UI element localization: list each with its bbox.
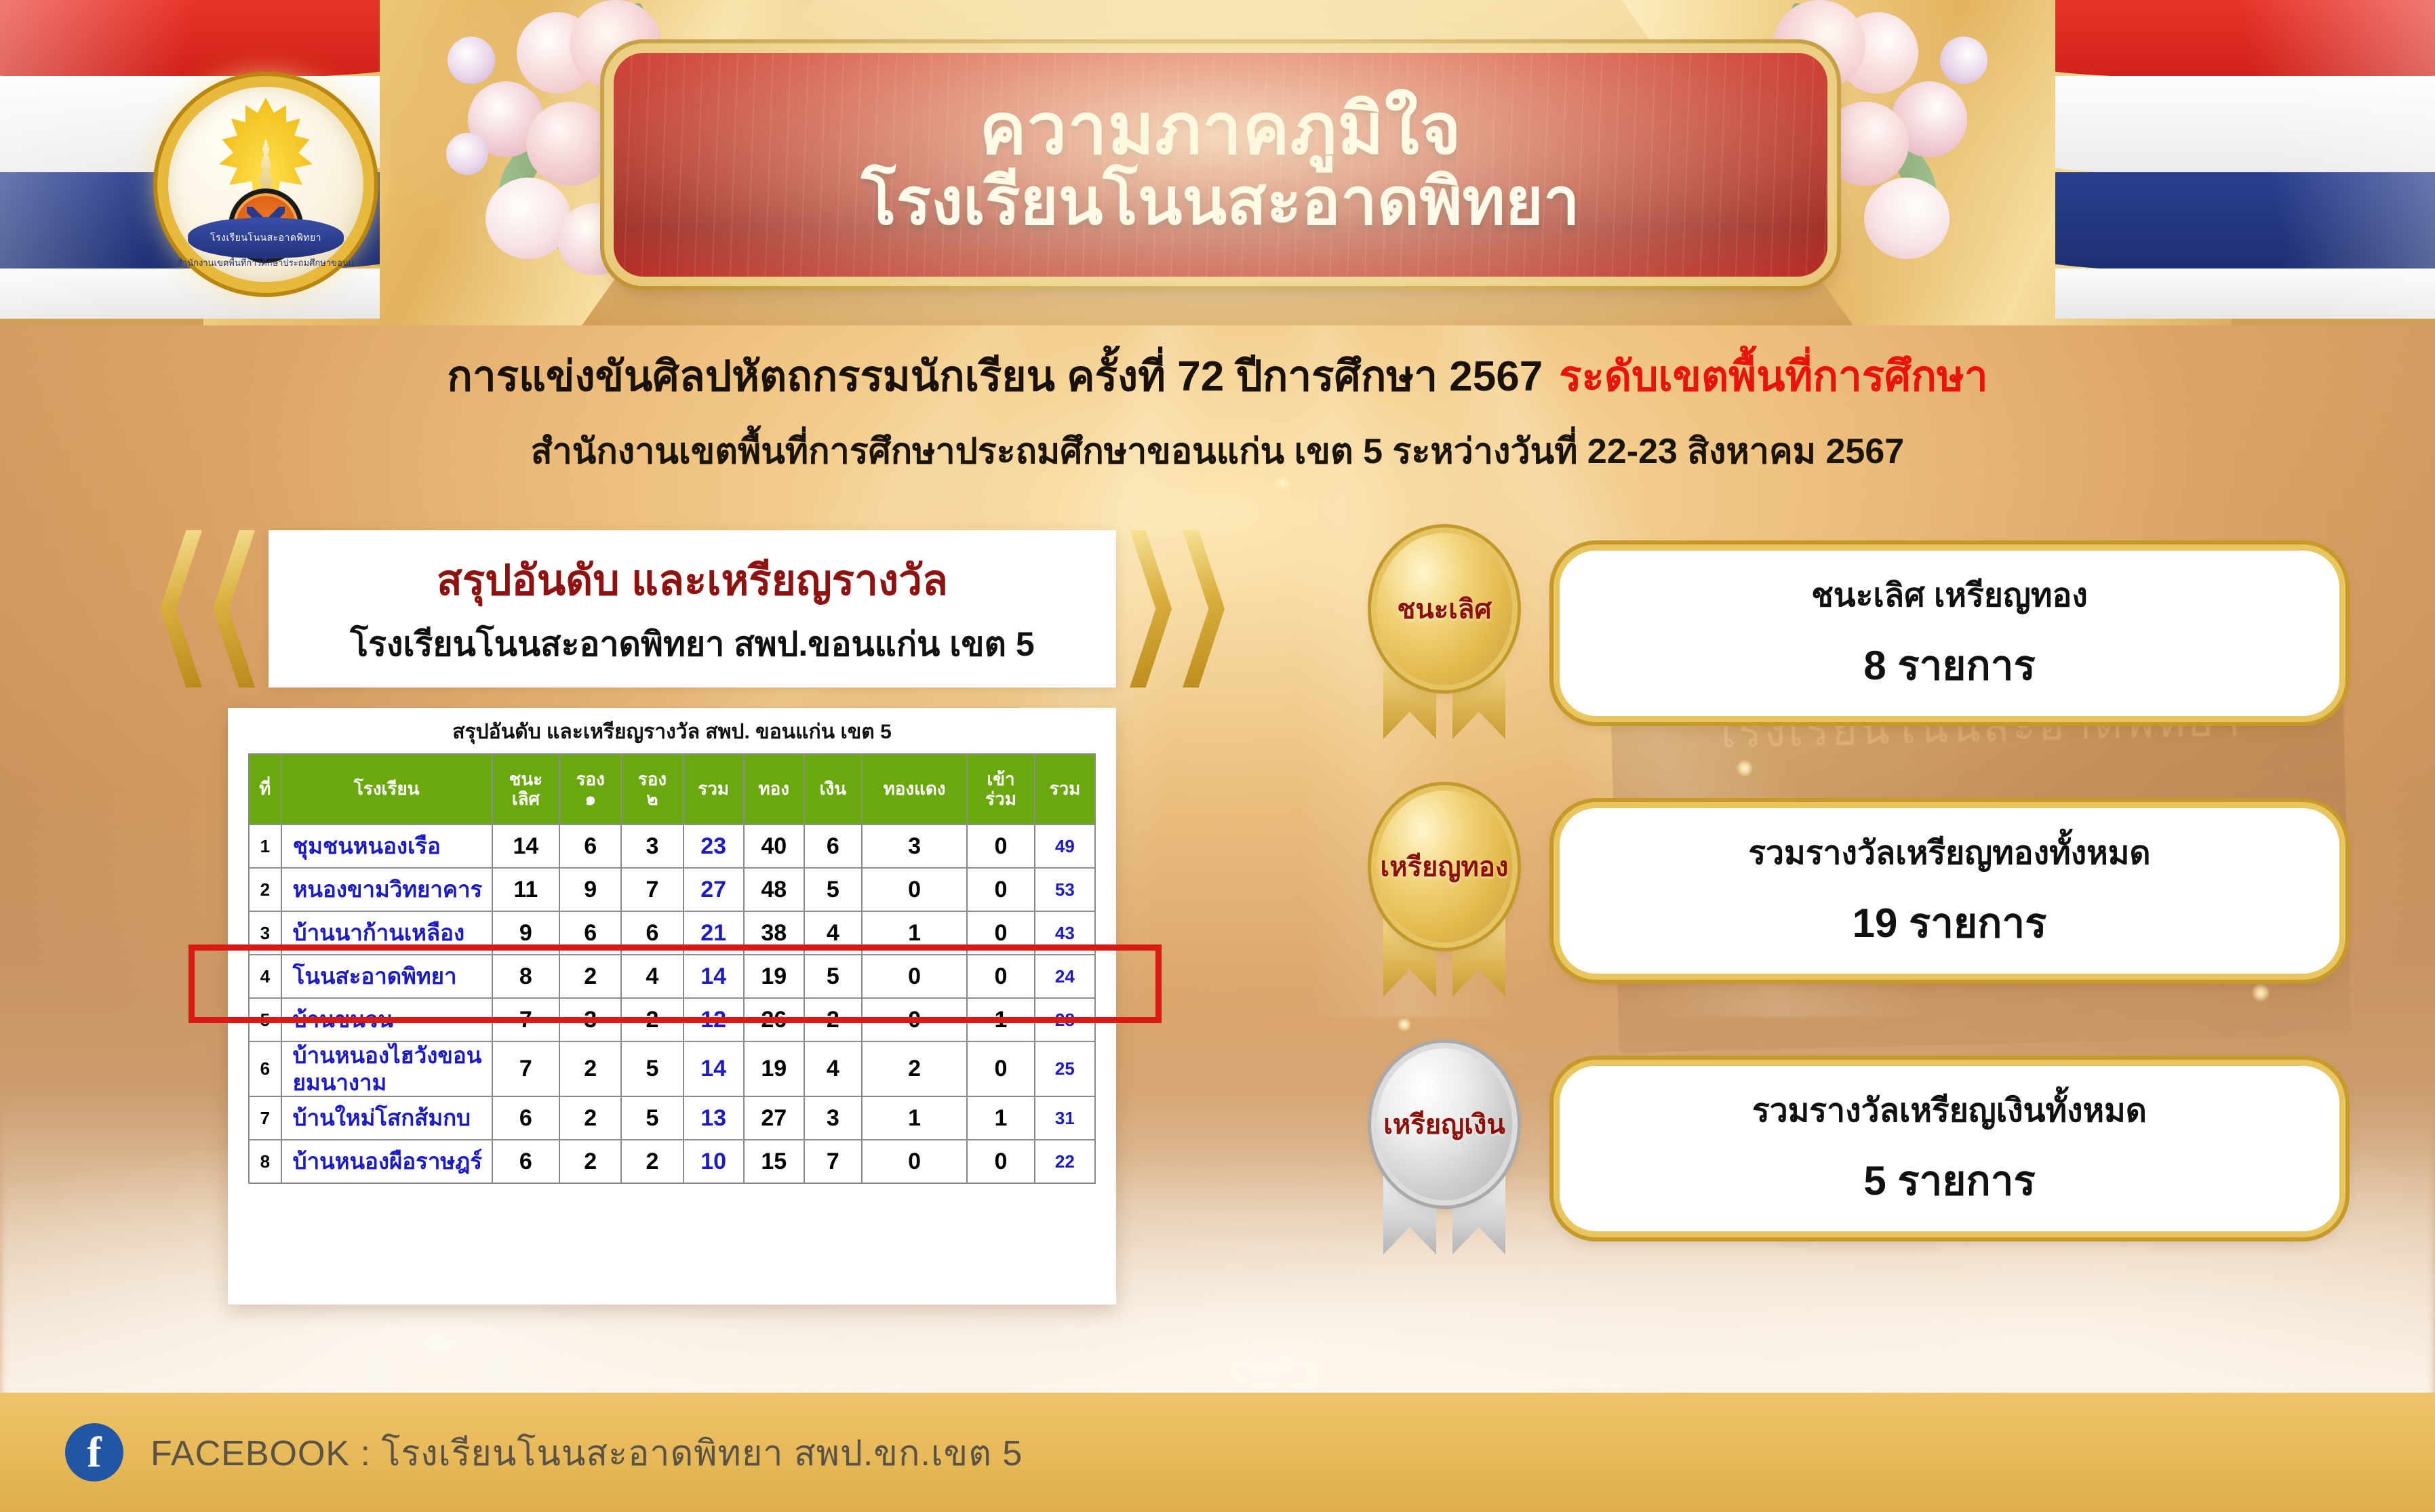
- table-cell-gold: 19: [744, 1041, 804, 1096]
- table-cell-bronze: 3: [862, 824, 967, 868]
- table-column-header-2: ชนะเลิศ: [492, 754, 560, 824]
- table-column-header-0: ที่: [249, 754, 281, 824]
- table-cell-school: โนนสะอาดพิทยา: [281, 955, 492, 998]
- table-header-row: ที่โรงเรียนชนะเลิศรอง๑รอง๒รวมทองเงินทองแ…: [249, 754, 1095, 824]
- table-cell-school: บ้านนาก้านเหลือง: [281, 911, 492, 955]
- table-cell-part: 0: [967, 911, 1035, 955]
- emblem-arc-text: สำนักงานเขตพื้นที่การศึกษาประถมศึกษาขอนแ…: [177, 256, 355, 270]
- table-cell-total: 28: [1035, 998, 1095, 1041]
- table-cell-r2: 3: [621, 824, 683, 868]
- table-caption: สรุปอันดับ และเหรียญรางวัล สพป. ขอนแก่น …: [228, 708, 1116, 753]
- table-column-header-4: รอง๒: [621, 754, 683, 824]
- table-cell-part: 1: [967, 998, 1035, 1041]
- table-body: 1ชุมชนหนองเรือ14632340630492หนองขามวิทยา…: [249, 824, 1095, 1183]
- table-cell-win: 7: [492, 998, 560, 1041]
- award-row-2: เหรียญทอง รวมรางวัลเหรียญทองทั้งหมด 19 ร…: [1343, 792, 2339, 995]
- table-cell-school: บ้านขนวน: [281, 998, 492, 1041]
- table-cell-win: 9: [492, 911, 560, 955]
- table-cell-total: 24: [1035, 955, 1095, 998]
- table-cell-total: 43: [1035, 911, 1095, 955]
- table-cell-part: 0: [967, 824, 1035, 868]
- floral-decoration-left: [366, 0, 746, 312]
- gold-swoosh-right: [1621, 0, 2232, 325]
- table-cell-gold: 27: [744, 1096, 804, 1140]
- table-cell-school: หนองขามวิทยาคาร: [281, 868, 492, 911]
- table-cell-part: 0: [967, 1041, 1035, 1096]
- table-cell-silver: 5: [804, 955, 862, 998]
- table-row[interactable]: 4โนนสะอาดพิทยา824141950024: [249, 955, 1095, 998]
- table-cell-school: บ้านหนองไฮวังขอนยมนางาม: [281, 1041, 492, 1096]
- table-cell-silver: 7: [804, 1140, 862, 1183]
- emblem-ribbon: โรงเรียนโนนสะอาดพิทยา: [188, 217, 344, 259]
- table-cell-no: 5: [249, 998, 281, 1041]
- gold-swoosh-left: [203, 0, 814, 325]
- award-card-title: รวมรางวัลเหรียญทองทั้งหมด: [1748, 827, 2150, 879]
- table-cell-sum: 14: [684, 1041, 744, 1096]
- table-cell-sum: 10: [684, 1140, 744, 1183]
- award-card: ชนะเลิศ เหรียญทอง 8 รายการ: [1560, 551, 2339, 716]
- table-cell-sum: 13: [684, 1096, 744, 1140]
- table-cell-r1: 6: [559, 824, 621, 868]
- table-column-header-3: รอง๑: [559, 754, 621, 824]
- table-cell-bronze: 0: [862, 868, 967, 911]
- award-ribbon-icon: ชนะเลิศ: [1343, 530, 1546, 734]
- subtitle-row-1: การแข่งขันศิลปหัตถกรรมนักเรียน ครั้งที่ …: [0, 339, 2435, 414]
- footer-bar: f FACEBOOK : โรงเรียนโนนสะอาดพิทยา สพป.ข…: [0, 1393, 2435, 1512]
- table-cell-sum: 21: [684, 911, 744, 955]
- table-cell-no: 1: [249, 824, 281, 868]
- table-column-header-7: เงิน: [804, 754, 862, 824]
- table-cell-bronze: 1: [862, 1096, 967, 1140]
- table-cell-silver: 6: [804, 824, 862, 868]
- table-cell-total: 53: [1035, 868, 1095, 911]
- table-cell-bronze: 1: [862, 911, 967, 955]
- page-title-line2: โรงเรียนโนนสะอาดพิทยา: [861, 168, 1580, 237]
- table-column-header-5: รวม: [684, 754, 744, 824]
- table-cell-total: 31: [1035, 1096, 1095, 1140]
- table-cell-total: 22: [1035, 1140, 1095, 1183]
- table-row[interactable]: 2หนองขามวิทยาคาร1197274850053: [249, 868, 1095, 911]
- thai-flag-right: [2055, 0, 2435, 319]
- ranking-table-card: สรุปอันดับ และเหรียญรางวัล สพป. ขอนแก่น …: [228, 708, 1116, 1305]
- emblem-ribbon-text: โรงเรียนโนนสะอาดพิทยา: [188, 217, 344, 259]
- table-cell-silver: 3: [804, 1096, 862, 1140]
- table-column-header-6: ทอง: [744, 754, 804, 824]
- section-subheading: โรงเรียนโนนสะอาดพิทยา สพป.ขอนแก่น เขต 5: [350, 618, 1034, 671]
- award-card-value: 5 รายการ: [1863, 1149, 2035, 1213]
- award-badge-label: ชนะเลิศ: [1377, 533, 1512, 685]
- table-cell-bronze: 2: [862, 1041, 967, 1096]
- table-cell-r1: 6: [559, 911, 621, 955]
- table-cell-no: 2: [249, 868, 281, 911]
- table-cell-sum: 14: [684, 955, 744, 998]
- table-cell-school: ชุมชนหนองเรือ: [281, 824, 492, 868]
- poster-stage: โรงเรียนโนนสะอาดพิทยา NONSAADPITTAYA SCH…: [0, 0, 2435, 1512]
- table-cell-gold: 19: [744, 955, 804, 998]
- table-cell-part: 0: [967, 868, 1035, 911]
- award-card-value: 19 รายการ: [1853, 891, 2047, 955]
- table-cell-r1: 2: [559, 1096, 621, 1140]
- table-cell-silver: 2: [804, 998, 862, 1041]
- table-row[interactable]: 8บ้านหนองผือราษฎร์622101570022: [249, 1140, 1095, 1183]
- table-row[interactable]: 6บ้านหนองไฮวังขอนยมนางาม725141942025: [249, 1041, 1095, 1096]
- table-cell-gold: 48: [744, 868, 804, 911]
- table-cell-win: 6: [492, 1140, 560, 1183]
- award-card: รวมรางวัลเหรียญเงินทั้งหมด 5 รายการ: [1560, 1066, 2339, 1231]
- table-cell-no: 7: [249, 1096, 281, 1140]
- table-cell-no: 3: [249, 911, 281, 955]
- award-ribbon-icon: เหรียญทอง: [1343, 788, 1546, 991]
- table-cell-gold: 38: [744, 911, 804, 955]
- chevron-right-icon: [1130, 530, 1172, 688]
- pagoda-icon: [251, 138, 281, 217]
- award-ribbon-icon: เหรียญเงิน: [1343, 1046, 1546, 1249]
- award-badge-label: เหรียญเงิน: [1377, 1048, 1512, 1200]
- table-cell-sum: 12: [684, 998, 744, 1041]
- table-cell-part: 0: [967, 1140, 1035, 1183]
- table-cell-gold: 15: [744, 1140, 804, 1183]
- table-cell-school: บ้านใหม่โสกส้มกบ: [281, 1096, 492, 1140]
- table-column-header-10: รวม: [1035, 754, 1095, 824]
- table-row[interactable]: 3บ้านนาก้านเหลือง966213841043: [249, 911, 1095, 955]
- table-cell-bronze: 0: [862, 955, 967, 998]
- award-card-title: รวมรางวัลเหรียญเงินทั้งหมด: [1752, 1085, 2147, 1136]
- section-heading: สรุปอันดับ และเหรียญรางวัล: [437, 547, 948, 614]
- table-cell-silver: 4: [804, 1041, 862, 1096]
- table-cell-sum: 23: [684, 824, 744, 868]
- table-column-header-8: ทองแดง: [862, 754, 967, 824]
- thai-flag-left: [0, 0, 380, 319]
- table-row[interactable]: 1ชุมชนหนองเรือ1463234063049: [249, 824, 1095, 868]
- table-cell-r1: 9: [559, 868, 621, 911]
- floral-decoration-right: [1689, 0, 2069, 312]
- school-emblem: โรงเรียนโนนสะอาดพิทยา สำนักงานเขตพื้นที่…: [168, 87, 363, 282]
- award-row-1: ชนะเลิศ ชนะเลิศ เหรียญทอง 8 รายการ: [1343, 534, 2339, 738]
- table-cell-win: 7: [492, 1041, 560, 1096]
- table-cell-total: 25: [1035, 1041, 1095, 1096]
- chevron-left-icon: [213, 530, 255, 688]
- table-cell-win: 6: [492, 1096, 560, 1140]
- table-cell-school: บ้านหนองผือราษฎร์: [281, 1140, 492, 1183]
- award-card-title: ชนะเลิศ เหรียญทอง: [1811, 570, 2088, 621]
- table-cell-bronze: 0: [862, 998, 967, 1041]
- section-header-panel: สรุปอันดับ และเหรียญรางวัล โรงเรียนโนนสะ…: [269, 530, 1116, 688]
- table-cell-gold: 40: [744, 824, 804, 868]
- footer-text: FACEBOOK : โรงเรียนโนนสะอาดพิทยา สพป.ขก.…: [151, 1425, 1023, 1481]
- table-cell-no: 8: [249, 1140, 281, 1183]
- table-cell-r2: 6: [621, 911, 683, 955]
- table-column-header-1: โรงเรียน: [281, 754, 492, 824]
- chevron-right-icon: [1183, 530, 1225, 688]
- table-row[interactable]: 7บ้านใหม่โสกส้มกบ625132731131: [249, 1096, 1095, 1140]
- subtitle-red-text: ระดับเขตพื้นที่การศึกษา: [1559, 343, 1987, 410]
- table-cell-r2: 5: [621, 1096, 683, 1140]
- table-cell-no: 6: [249, 1041, 281, 1096]
- table-cell-win: 8: [492, 955, 560, 998]
- table-cell-r1: 2: [559, 1140, 621, 1183]
- table-cell-silver: 5: [804, 868, 862, 911]
- top-banner: โรงเรียนโนนสะอาดพิทยา สำนักงานเขตพื้นที่…: [0, 0, 2435, 325]
- table-cell-r1: 2: [559, 955, 621, 998]
- table-cell-win: 11: [492, 868, 560, 911]
- subtitle-black-text: การแข่งขันศิลปหัตถกรรมนักเรียน ครั้งที่ …: [447, 343, 1543, 410]
- section-header-banner: สรุปอันดับ และเหรียญรางวัล โรงเรียนโนนสะ…: [160, 530, 1225, 688]
- ranking-table: ที่โรงเรียนชนะเลิศรอง๑รอง๒รวมทองเงินทองแ…: [248, 753, 1096, 1184]
- award-badge-label: เหรียญทอง: [1377, 791, 1512, 942]
- table-cell-total: 49: [1035, 824, 1095, 868]
- table-column-header-9: เข้าร่วม: [967, 754, 1035, 824]
- crown-icon: [215, 98, 317, 193]
- table-cell-bronze: 0: [862, 1140, 967, 1183]
- chevron-left-icon: [160, 530, 202, 688]
- subtitle-row-2: สำนักงานเขตพื้นที่การศึกษาประถมศึกษาขอนแ…: [0, 419, 2435, 481]
- facebook-icon[interactable]: f: [65, 1423, 123, 1481]
- table-cell-r1: 2: [559, 1041, 621, 1096]
- award-card: รวมรางวัลเหรียญทองทั้งหมด 19 รายการ: [1560, 808, 2339, 974]
- table-cell-no: 4: [249, 955, 281, 998]
- table-cell-sum: 27: [684, 868, 744, 911]
- table-cell-part: 1: [967, 1096, 1035, 1140]
- table-cell-gold: 26: [744, 998, 804, 1041]
- table-cell-part: 0: [967, 955, 1035, 998]
- page-title-line1: ความภาคภูมิใจ: [979, 94, 1461, 165]
- seal-icon: [229, 188, 303, 263]
- title-plaque: ความภาคภูมิใจ โรงเรียนโนนสะอาดพิทยา: [614, 53, 1827, 277]
- table-cell-silver: 4: [804, 911, 862, 955]
- table-cell-r2: 4: [621, 955, 683, 998]
- table-cell-r2: 7: [621, 868, 683, 911]
- table-cell-r2: 5: [621, 1041, 683, 1096]
- table-row[interactable]: 5บ้านขนวน732122620128: [249, 998, 1095, 1041]
- award-card-value: 8 รายการ: [1863, 633, 2035, 698]
- table-cell-r2: 2: [621, 1140, 683, 1183]
- table-cell-r1: 3: [559, 998, 621, 1041]
- table-cell-r2: 2: [621, 998, 683, 1041]
- table-cell-win: 14: [492, 824, 560, 868]
- award-row-3: เหรียญเงิน รวมรางวัลเหรียญเงินทั้งหมด 5 …: [1343, 1050, 2339, 1253]
